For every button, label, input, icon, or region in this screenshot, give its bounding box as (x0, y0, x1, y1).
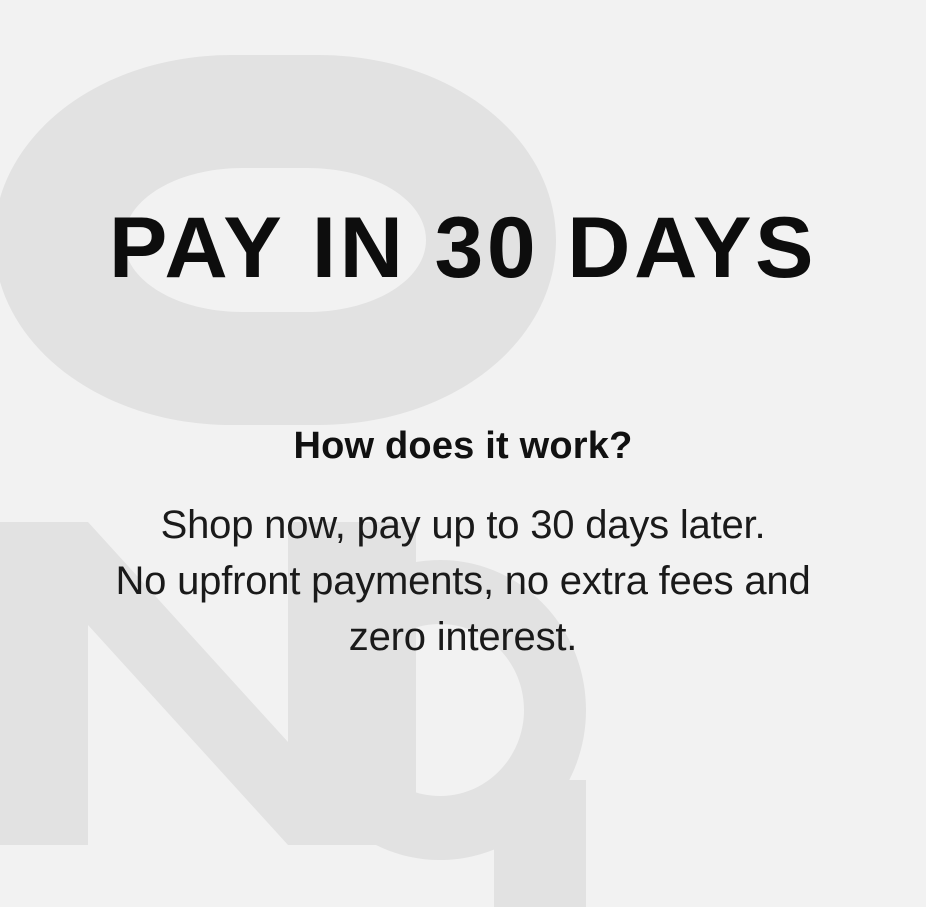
page-title: PAY IN 30 DAYS (0, 205, 926, 291)
promo-banner: PAY IN 30 DAYS How does it work? Shop no… (0, 0, 926, 907)
promo-description-line-3: zero interest. (0, 609, 926, 665)
promo-content: PAY IN 30 DAYS How does it work? Shop no… (0, 0, 926, 907)
section-heading-how-does-it-work: How does it work? (0, 424, 926, 469)
promo-description: Shop now, pay up to 30 days later. No up… (0, 497, 926, 665)
promo-description-line-2: No upfront payments, no extra fees and (0, 553, 926, 609)
promo-description-line-1: Shop now, pay up to 30 days later. (0, 497, 926, 553)
